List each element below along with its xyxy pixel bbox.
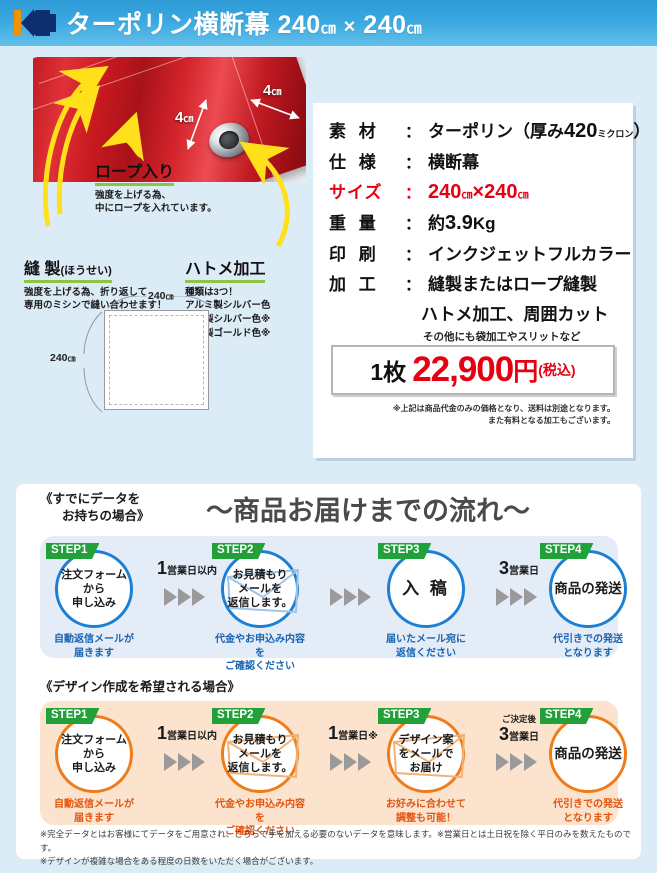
- flow-step-o2: STEP2 お見積もり メールを 返信します。 代金やお申込み内容を ご確認くだ…: [212, 715, 308, 839]
- step-circle: STEP1 注文フォーム から 申し込み: [55, 715, 133, 793]
- spec-value: インクジェットフルカラー: [428, 240, 632, 265]
- spec-key: 仕 様: [329, 148, 405, 173]
- price-box: 1枚 22,900 円 (税込): [331, 345, 615, 395]
- spec-list: 素 材 ： ターポリン（厚み420ミクロン） 仕 様 ： 横断幕 サイズ ： 2…: [329, 117, 633, 360]
- title-multiply: ×: [344, 16, 356, 38]
- flow-strip-design-request: STEP1 注文フォーム から 申し込み 自動返信メールが 届きます 1営業日以…: [40, 701, 618, 825]
- title-width-unit: ㎝: [321, 20, 337, 37]
- title-height-unit: ㎝: [407, 20, 423, 37]
- flow-title: 〜商品お届けまでの流れ〜: [206, 489, 530, 528]
- banner-shape: [104, 310, 209, 410]
- page-title: ターポリン横断幕 240㎝ × 240㎝: [66, 5, 422, 41]
- step-badge: STEP4: [540, 543, 593, 559]
- flow-arrow-2: [330, 588, 376, 606]
- price-tax-note: (税込): [538, 360, 575, 380]
- step-caption: 届いたメール宛に 返信ください: [378, 633, 474, 660]
- delivery-flow-section: 《すでにデータをお持ちの場合》 〜商品お届けまでの流れ〜 STEP1 注文フォー…: [16, 484, 641, 859]
- size-label-height: 240㎝: [50, 352, 76, 364]
- step-badge: STEP2: [212, 543, 265, 559]
- annotation-rope-title: ロープ入り: [95, 164, 174, 186]
- spec-row-print: 印 刷 ： インクジェットフルカラー: [329, 240, 633, 265]
- flow-arrow-o1: [164, 753, 210, 771]
- step-text: 商品の発送: [554, 745, 622, 762]
- spec-value: ターポリン（厚み420ミクロン）: [428, 117, 650, 143]
- step-text: お見積もり メールを 返信します。: [228, 568, 293, 610]
- step-text: 商品の発送: [554, 580, 622, 597]
- step-caption: お好みに合わせて 調整も可能！: [378, 798, 474, 825]
- flow-subtitle: 《すでにデータをお持ちの場合》: [40, 491, 150, 525]
- step-circle: STEP3 デザイン案 をメールで お届け: [387, 715, 465, 793]
- step-badge: STEP1: [46, 708, 99, 724]
- step-caption: 自動返信メールが 届きます: [46, 798, 142, 825]
- step-circle: STEP3 入 稿: [387, 550, 465, 628]
- step-badge: STEP3: [378, 708, 431, 724]
- size-label-width: 240㎝: [148, 290, 174, 302]
- step-text: 入 稿: [402, 578, 450, 600]
- title-height: 240: [363, 11, 406, 39]
- spec-value: 240㎝×240㎝: [428, 181, 528, 204]
- price-disclaimer: ※上記は商品代金のみの価格となり、送料は別途となります。 また有料となる加工もご…: [331, 403, 615, 427]
- step-caption: 代金やお申込み内容を ご確認ください: [212, 633, 308, 674]
- flow-arrow-o3: [496, 753, 542, 771]
- logo-arrow-icon: [20, 8, 58, 38]
- flow-step-3: STEP3 入 稿 届いたメール宛に 返信ください: [378, 550, 474, 660]
- step-badge: STEP1: [46, 543, 99, 559]
- flow-header: 《すでにデータをお持ちの場合》 〜商品お届けまでの流れ〜: [16, 484, 641, 532]
- step-circle: STEP4 商品の発送: [549, 550, 627, 628]
- spec-row-size: サイズ ： 240㎝×240㎝: [329, 178, 633, 204]
- spec-value: 横断幕: [428, 148, 479, 173]
- flow-step-o4: STEP4 商品の発送 代引きでの発送 となります: [540, 715, 636, 825]
- title-width: 240: [277, 11, 320, 39]
- price-amount: 22,900: [412, 350, 513, 390]
- flow-step-4: STEP4 商品の発送 代引きでの発送 となります: [540, 550, 636, 660]
- spec-key: 素 材: [329, 117, 405, 142]
- size-diagram: 240㎝ 240㎝: [62, 296, 222, 416]
- step-badge: STEP3: [378, 543, 431, 559]
- step-caption: 自動返信メールが 届きます: [46, 633, 142, 660]
- flow-step-2: STEP2 お見積もり メールを 返信します。 代金やお申込み内容を ご確認くだ…: [212, 550, 308, 674]
- spec-key: 印 刷: [329, 240, 405, 265]
- step-text: お見積もり メールを 返信します。: [228, 733, 293, 775]
- step-badge: STEP4: [540, 708, 593, 724]
- flow-arrow-o2: [330, 753, 376, 771]
- spec-row-weight: 重 量 ： 約3.9Kg: [329, 209, 633, 235]
- flow-step-o1: STEP1 注文フォーム から 申し込み 自動返信メールが 届きます: [46, 715, 142, 825]
- spec-value: 約3.9Kg: [428, 209, 495, 235]
- step-circle: STEP2 お見積もり メールを 返信します。: [221, 715, 299, 793]
- flow-step-o3: STEP3 デザイン案 をメールで お届け お好みに合わせて 調整も可能！: [378, 715, 474, 825]
- annotation-grommet-title: ハトメ加工: [185, 261, 265, 283]
- flow-arrow-3: [496, 588, 542, 606]
- spec-key: サイズ: [329, 178, 405, 203]
- company-logo: [12, 6, 60, 40]
- step-text: デザイン案 をメールで お届け: [399, 733, 454, 775]
- spec-row-material: 素 材 ： ターポリン（厚み420ミクロン）: [329, 117, 633, 143]
- annotation-rope: ロープ入り 強度を上げる為、 中にロープを入れています。: [95, 164, 217, 216]
- spec-row-process: 加 工 ： 縫製またはロープ縫製: [329, 270, 633, 295]
- step-circle: STEP4 商品の発送: [549, 715, 627, 793]
- annotation-rope-body: 強度を上げる為、 中にロープを入れています。: [95, 189, 217, 217]
- step-badge: STEP2: [212, 708, 265, 724]
- price-currency: 円: [513, 352, 538, 388]
- spec-value: 縫製またはロープ縫製: [428, 270, 597, 295]
- flow-strip-existing-data: STEP1 注文フォーム から 申し込み 自動返信メールが 届きます 1営業日以…: [40, 536, 618, 658]
- step-caption: 代引きでの発送 となります: [540, 633, 636, 660]
- flow-section2-label: 《デザイン作成を希望される場合》: [40, 676, 240, 695]
- product-overview-section: 4㎝ 4㎝ ロープ入り 強度を上げる為、 中にロープを入れています。 縫 製(ほ…: [0, 46, 657, 436]
- flow-footer-note: ※完全データとはお客様にてデータをご用意され、こちらで手を加える必要のないデータ…: [40, 828, 641, 869]
- spec-process-line2: ハトメ加工、周囲カット: [421, 300, 633, 325]
- spec-key: 加 工: [329, 270, 405, 295]
- step-caption: 代引きでの発送 となります: [540, 798, 636, 825]
- step-circle: STEP1 注文フォーム から 申し込み: [55, 550, 133, 628]
- step-circle: STEP2 お見積もり メールを 返信します。: [221, 550, 299, 628]
- spec-row-type: 仕 様 ： 横断幕: [329, 148, 633, 173]
- annotation-sewing-title: 縫 製(ほうせい): [24, 261, 112, 283]
- flow-step-1: STEP1 注文フォーム から 申し込み 自動返信メールが 届きます: [46, 550, 142, 660]
- step-text: 注文フォーム から 申し込み: [61, 733, 127, 775]
- page-header: ターポリン横断幕 240㎝ × 240㎝: [0, 0, 657, 46]
- step-text: 注文フォーム から 申し込み: [61, 568, 127, 610]
- flow-arrow-1: [164, 588, 210, 606]
- title-product: ターポリン横断幕: [66, 11, 270, 39]
- spec-panel: 素 材 ： ターポリン（厚み420ミクロン） 仕 様 ： 横断幕 サイズ ： 2…: [313, 103, 633, 458]
- spec-key: 重 量: [329, 209, 405, 234]
- price-quantity: 1枚: [370, 353, 406, 387]
